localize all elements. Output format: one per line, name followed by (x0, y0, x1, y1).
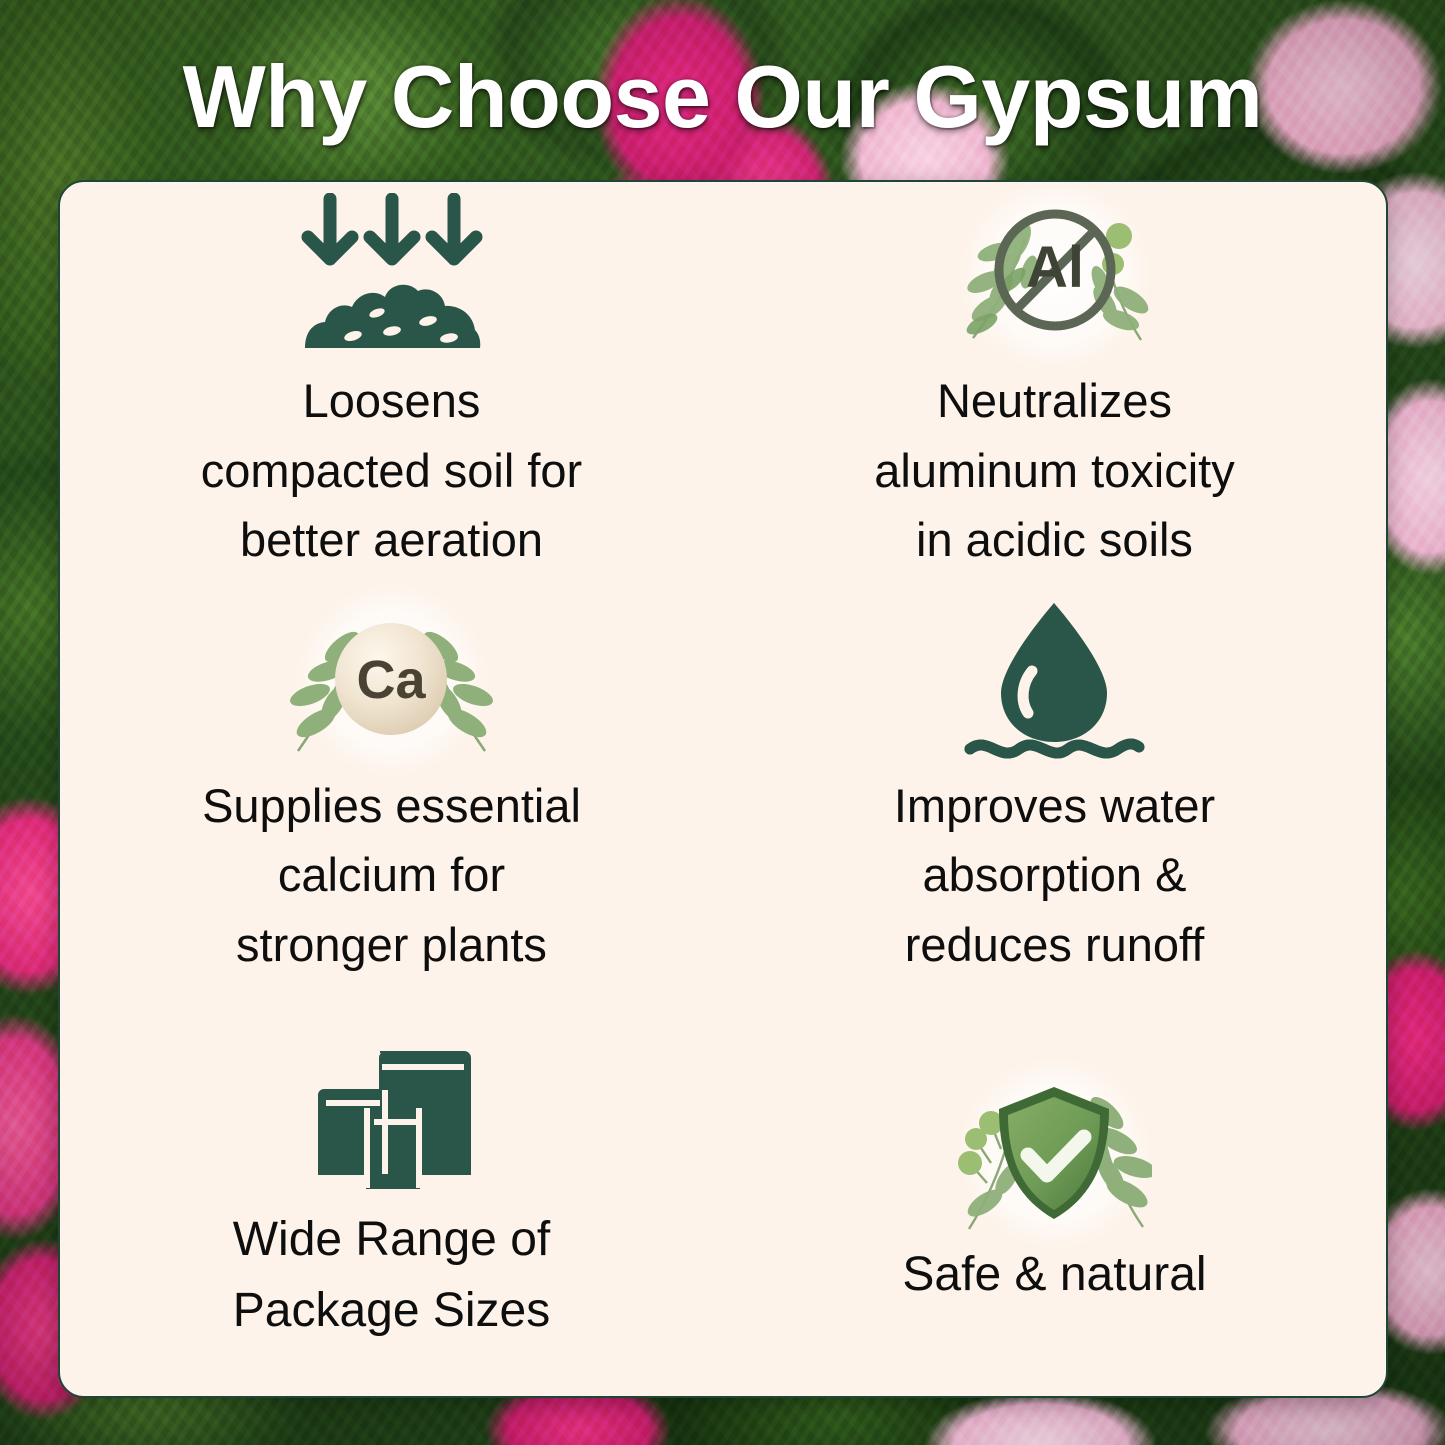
shield-check-leaves-icon (957, 1073, 1152, 1233)
feature-item-supplies-calcium: Ca Supplies essential calcium for strong… (60, 587, 723, 992)
feature-caption: Neutralizes aluminum toxicity in acidic … (874, 366, 1234, 575)
page-title: Why Choose Our Gypsum (0, 46, 1445, 148)
feature-item-neutralizes-aluminum: Al Neutralizes aluminum toxicity in acid… (723, 182, 1386, 587)
feature-item-improves-water: Improves water absorption & reduces runo… (723, 587, 1386, 992)
features-grid: Loosens compacted soil for better aerati… (60, 182, 1386, 1396)
infographic-canvas: Why Choose Our Gypsum (0, 0, 1445, 1445)
no-aluminum-icon: Al (955, 190, 1155, 360)
package-bags-icon (302, 1038, 482, 1198)
calcium-sphere-icon: Ca (284, 595, 499, 765)
feature-caption: Safe & natural (902, 1239, 1206, 1310)
calcium-symbol-label: Ca (356, 650, 426, 710)
soil-arrows-icon (297, 190, 487, 360)
feature-item-package-sizes: Wide Range of Package Sizes (60, 991, 723, 1396)
feature-caption: Supplies essential calcium for stronger … (202, 771, 581, 980)
feature-item-loosens-soil: Loosens compacted soil for better aerati… (60, 182, 723, 587)
feature-item-safe-natural: Safe & natural (723, 991, 1386, 1396)
features-card: Loosens compacted soil for better aerati… (58, 180, 1388, 1398)
water-droplet-waves-icon (962, 595, 1147, 765)
feature-caption: Wide Range of Package Sizes (233, 1204, 551, 1346)
feature-caption: Loosens compacted soil for better aerati… (201, 366, 582, 575)
aluminum-symbol-label: Al (1026, 235, 1084, 300)
feature-caption: Improves water absorption & reduces runo… (894, 771, 1215, 980)
